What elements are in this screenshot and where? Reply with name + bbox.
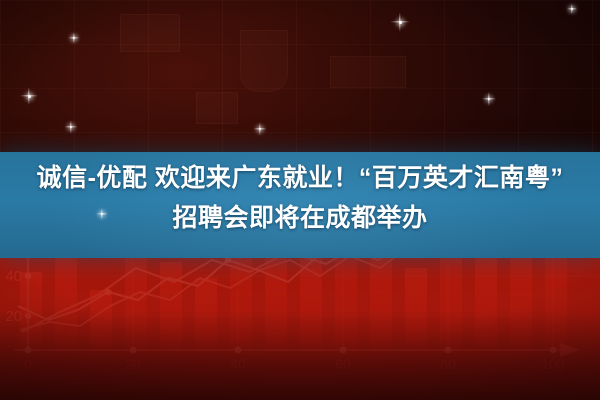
promo-banner: 100 80 60 40 20 0 20 40 60 80 100 诚信-优配 … — [0, 0, 600, 400]
headline-line-2: 招聘会即将在成都举办 — [0, 198, 600, 238]
headline-line-1: 诚信-优配 欢迎来广东就业！“百万英才汇南粤” — [37, 164, 564, 192]
headline-text: 诚信-优配 欢迎来广东就业！“百万英才汇南粤” 招聘会即将在成都举办 — [0, 158, 600, 238]
